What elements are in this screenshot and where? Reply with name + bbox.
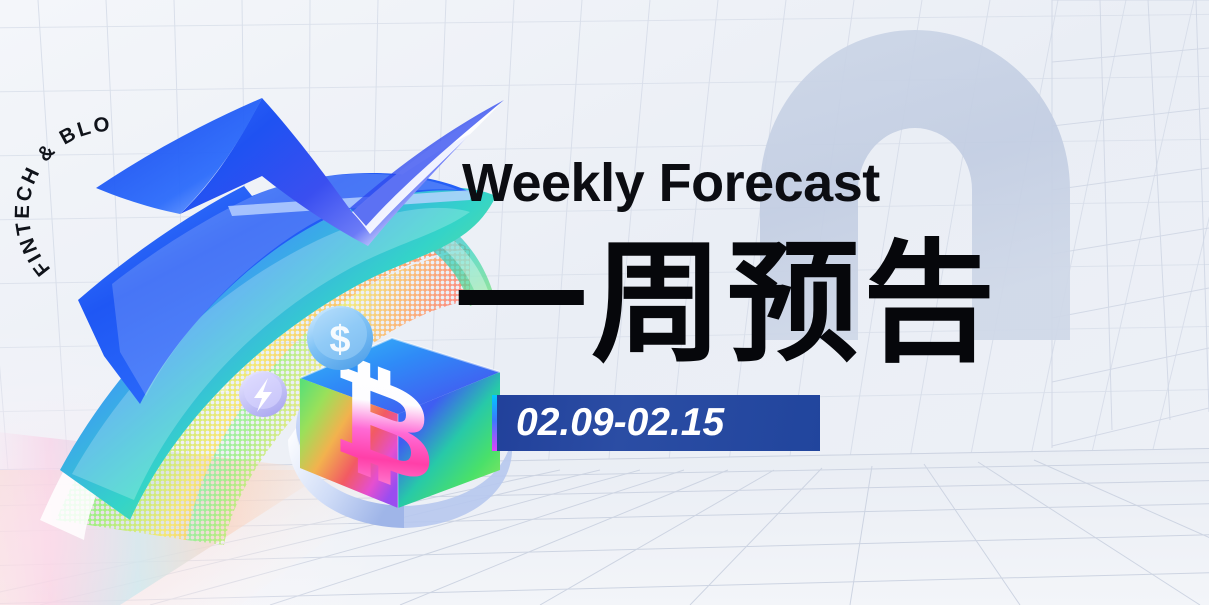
dollar-symbol: $ bbox=[329, 319, 350, 361]
weekly-forecast-banner: ₿ $ FINTECH & BLOCKCHAIN Week bbox=[0, 0, 1209, 605]
badge-accent-edge bbox=[492, 395, 497, 451]
banner-title: Weekly Forecast bbox=[462, 152, 880, 214]
circular-lockup-label: FINTECH & BLOCKCHAIN bbox=[6, 108, 113, 280]
bolt-coin bbox=[239, 371, 287, 417]
banner-headline-chinese: 一周预告 bbox=[455, 238, 999, 370]
date-range-badge: 02.09-02.15 bbox=[492, 395, 820, 451]
dollar-coin: $ bbox=[307, 306, 373, 370]
date-range-label: 02.09-02.15 bbox=[516, 401, 724, 445]
circular-lockup-text: FINTECH & BLOCKCHAIN bbox=[6, 108, 216, 318]
